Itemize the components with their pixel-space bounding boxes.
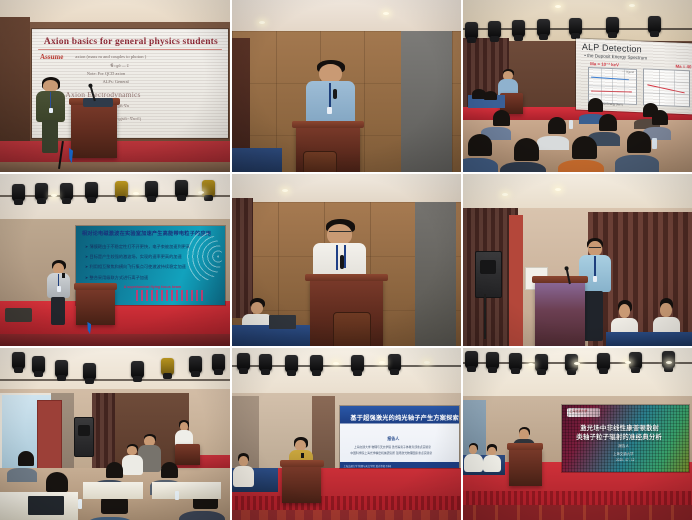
speaker-stand (484, 294, 486, 339)
patterned-carpet (463, 505, 692, 520)
slide-bullet-2: ➤ 目标是产生较强的激波场，实现的速率更高的加速 (85, 254, 182, 260)
badge (57, 286, 61, 292)
microphone (340, 255, 344, 268)
slide-figure-caption: A superluminal flying focus beam (124, 285, 181, 289)
person-standing (122, 444, 143, 478)
lectern-top (74, 283, 118, 290)
slide-bullet-3: ➤ 利用相互聚焦和横向飞行集点可使激波持续稳定加速 (85, 264, 186, 270)
curve-series-1 (591, 77, 629, 81)
stage-front-edge (0, 334, 230, 346)
ceiling (463, 348, 692, 403)
head (469, 445, 477, 454)
torso (464, 454, 483, 472)
slide-title: ALP Detection (582, 42, 642, 55)
slide-bullet-1-text: 薄膜靶由于不稳定性打不开更快，电子束被加速到更高 (90, 244, 191, 249)
slide-title: 基于超强激光的纯光轴子产生方案探索 (350, 413, 458, 422)
badge (49, 108, 53, 113)
downlight-icon (555, 188, 561, 191)
photo-cell-top-right[interactable]: ALP Detection • the Deposit Energy Spect… (463, 0, 692, 172)
slide-body-line-2: Note: For QCD axion (87, 71, 125, 76)
slide-bullet-4: ➤ 整合采用级联方式进行离子加速 (85, 275, 148, 281)
photo-cell-bottom-left[interactable] (0, 348, 230, 520)
microphone (301, 453, 304, 458)
lanyard (329, 83, 331, 108)
slide-date: 2025. 07. 12 (616, 458, 635, 462)
slide-body-line-1: axion (mass m and couples to photon ) (75, 54, 146, 59)
slide-bullet-2-text: 目标是产生较强的激波场，实现的速率更高的加速 (90, 254, 182, 259)
floor-edge (0, 162, 230, 172)
table-cloth (83, 482, 143, 499)
slide-annotation-right: Ma = 40 (676, 64, 692, 70)
truss-bar (463, 362, 692, 364)
water-bottle (569, 120, 573, 129)
head (239, 456, 248, 466)
water-bottle (652, 138, 657, 149)
curtain (92, 393, 115, 472)
water-bottle (175, 491, 179, 500)
legs (42, 120, 58, 153)
downlight-icon (259, 21, 265, 24)
glasses-icon (589, 247, 602, 251)
photo-cell-bottom-right[interactable]: 上海交通大学 激光场中非线性康普顿散射 类轴子粒子辐射的准经典分析 报告人 上海… (463, 348, 692, 520)
head (127, 446, 137, 455)
laptop-on-lectern (83, 98, 113, 107)
wall-column (312, 396, 335, 468)
badge (327, 107, 332, 114)
photo-cell-top-left[interactable]: Axion basics for general physics student… (0, 0, 230, 172)
photo-collage-grid: Axion basics for general physics student… (0, 0, 692, 520)
laptop (269, 315, 296, 329)
water-bottle (78, 499, 82, 509)
led-wall: 上海交通大学 激光场中非线性康普顿散射 类轴子粒子辐射的准经典分析 报告人 上海… (562, 405, 689, 472)
figure-flying-focus (136, 290, 205, 300)
slide-bullet-3-text: 利用相互聚焦和横向飞行集点可使激波持续稳定加速 (90, 264, 186, 269)
slide-divider (38, 49, 222, 51)
slide-affiliation: 上海交通大学 (613, 451, 633, 456)
person-volunteer (484, 91, 497, 100)
wall-pillar-left (0, 17, 30, 144)
slide-emphasis-word: Assume (40, 53, 63, 61)
grey-pillar (415, 202, 456, 346)
slide-affiliation-2: 中国科学院上海光学精密机械研究所 强场激光物理国家重点实验室 (350, 451, 432, 455)
lanyard (50, 92, 52, 108)
photo-cell-middle-center[interactable] (232, 174, 461, 346)
slide-bullet-1-text: the Deposit Energy Spectrum (587, 53, 647, 61)
slide-title-line-1: 激光场中非线性康普顿散射 (580, 423, 659, 432)
glasses-icon (329, 231, 351, 236)
patterned-carpet (232, 510, 461, 520)
head (660, 303, 672, 317)
door-red (37, 400, 62, 471)
slide-bullet-1: ➤ 薄膜靶由于不稳定性打不开更快，电子束被加速到更高 (85, 244, 190, 250)
person-technician (465, 443, 481, 472)
lanyard (344, 245, 346, 268)
truss-bar (0, 195, 230, 197)
lectern-top (532, 276, 589, 283)
torso (233, 466, 254, 487)
slide-footer-logo: 上海交通大学 物理与天文学院 激光等离子体教育部重点实验室 (343, 464, 391, 468)
slide-annotation-left: Ma = 10⁻³ keV (590, 61, 619, 68)
slide-presenter: 报告人 (387, 436, 399, 442)
slide-affiliation-1: 上海交通大学 物理与天文学院 激光等离子体教育部重点实验室 (354, 445, 431, 449)
lectern-top (507, 443, 543, 450)
lanyard (594, 256, 596, 277)
pa-speaker (475, 251, 502, 298)
slide-bullet-4-text: 整合采用级联方式进行离子加速 (90, 275, 149, 280)
slide-body-line-3: ALPs: General (103, 79, 129, 84)
figure-wave-rings (184, 232, 223, 281)
torso (483, 455, 502, 472)
microphone (62, 273, 65, 278)
head (251, 302, 264, 315)
head (619, 304, 631, 318)
person-speaker (46, 260, 71, 324)
pa-speaker (74, 417, 94, 457)
person-technician (484, 444, 500, 472)
torso (122, 455, 143, 476)
lanyard (336, 245, 338, 270)
lectern (71, 103, 117, 158)
slide-title: Axion basics for general physics student… (44, 37, 218, 47)
lectern-top (280, 460, 324, 467)
legs (584, 291, 603, 341)
legs (51, 297, 65, 325)
photo-cell-top-center[interactable] (232, 0, 461, 172)
fire-cabinet (509, 215, 523, 346)
grey-pillar (401, 31, 451, 172)
chair (333, 312, 372, 346)
lanyard (58, 274, 60, 287)
equipment-case (5, 308, 33, 322)
slide-title-line-2: 类轴子粒子辐射的准经典分析 (576, 432, 662, 441)
photo-cell-middle-left[interactable]: 相对论电磁激波在实验室加速产生高能带电粒子的应用 ➤ 薄膜靶由于不稳定性打不开更… (0, 174, 230, 346)
photo-cell-bottom-center[interactable]: 基于超强激光的纯光轴子产生方案探索 报告人 上海交通大学 物理与天文学院 激光等… (232, 348, 461, 520)
lectern (509, 448, 541, 486)
table-cloth (152, 482, 221, 499)
slide-presenter: 报告人 (618, 444, 629, 449)
lectern (76, 288, 115, 326)
lectern-top (292, 121, 364, 128)
head (488, 447, 496, 455)
laptop (28, 496, 65, 515)
slide-bullet-1: • the Deposit Energy Spectrum (584, 53, 647, 61)
av-table (606, 332, 692, 346)
university-logo: 上海交通大学 (567, 408, 600, 417)
photo-cell-middle-right[interactable] (463, 174, 692, 346)
truss-bar (463, 28, 692, 30)
curve-series-2 (591, 91, 632, 93)
truss-bar (232, 365, 461, 367)
curve-series-3 (647, 85, 684, 94)
lectern (535, 281, 586, 346)
person-technician (234, 453, 252, 487)
projection-screen: 基于超强激光的纯光轴子产生方案探索 报告人 上海交通大学 物理与天文学院 激光等… (340, 406, 459, 468)
university-logo-text: 上海交通大学 (569, 409, 587, 413)
lectern-top (305, 274, 387, 281)
microphone (333, 89, 337, 99)
lectern (175, 444, 200, 465)
av-table (232, 148, 282, 172)
chair (303, 151, 337, 172)
slide-formula-1: 𝓖 = gθ — Σ (110, 63, 129, 68)
truss-bar (0, 379, 230, 381)
lectern (282, 465, 321, 503)
badge (593, 276, 597, 282)
deposit-energy-plot-right (643, 68, 690, 107)
